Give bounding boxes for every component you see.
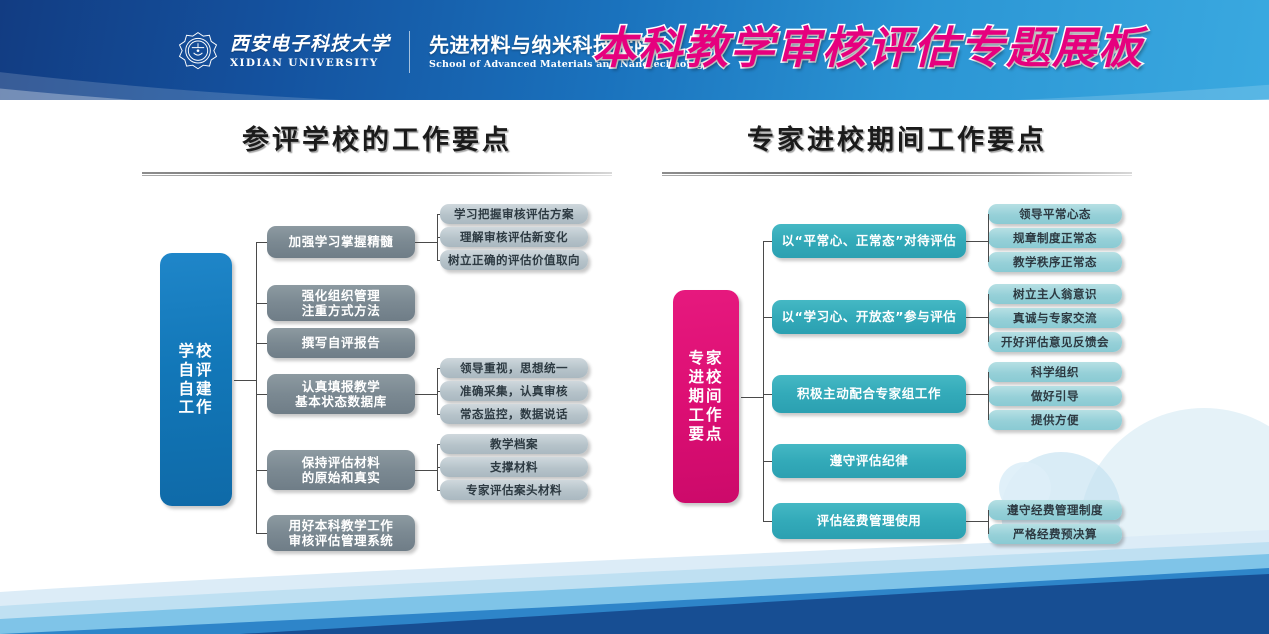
right-branch-1-item-3[interactable]: 教学秩序正常态 — [988, 252, 1122, 272]
left-item-connector-4-2 — [437, 391, 440, 392]
left-branch-4-item-3[interactable]: 常态监控，数据说话 — [440, 404, 588, 424]
left-panel-title: 参评学校的工作要点 — [142, 126, 612, 156]
left-branch-1-item-1[interactable]: 学习把握审核评估方案 — [440, 204, 588, 224]
right-child-stem-2 — [966, 317, 988, 318]
right-branch-1[interactable]: 以“平常心、正常态”对待评估 — [772, 224, 966, 258]
right-branch-3[interactable]: 积极主动配合专家组工作 — [772, 375, 966, 413]
left-item-connector-1-1 — [437, 214, 440, 215]
right-branch-1-item-2[interactable]: 规章制度正常态 — [988, 228, 1122, 248]
right-branch-4[interactable]: 遵守评估纪律 — [772, 444, 966, 478]
right-branch-connector-1 — [763, 241, 772, 242]
right-root-stem — [741, 397, 763, 398]
left-item-connector-4-3 — [437, 414, 440, 415]
left-item-connector-1-2 — [437, 237, 440, 238]
left-main-spine — [256, 242, 257, 533]
university-seal-icon — [176, 30, 220, 74]
left-branch-4-item-2[interactable]: 准确采集，认真审核 — [440, 381, 588, 401]
left-branch-1-item-2[interactable]: 理解审核评估新变化 — [440, 227, 588, 247]
right-root-node[interactable]: 专家 进校 期间 工作 要点 — [673, 290, 739, 503]
right-branch-connector-4 — [763, 461, 772, 462]
left-branch-3[interactable]: 撰写自评报告 — [267, 328, 415, 358]
left-branch-1-item-3[interactable]: 树立正确的评估价值取向 — [440, 250, 588, 270]
left-branch-4[interactable]: 认真填报教学 基本状态数据库 — [267, 374, 415, 414]
right-branch-3-item-2[interactable]: 做好引导 — [988, 386, 1122, 406]
left-branch-connector-1 — [256, 242, 267, 243]
page-title: 本科教学审核评估专题展板 — [592, 27, 1144, 71]
bottom-wave-decoration — [0, 514, 1269, 634]
right-child-spine-2 — [988, 294, 989, 342]
left-child-stem-1 — [415, 242, 437, 243]
right-branch-2-item-2[interactable]: 真诚与专家交流 — [988, 308, 1122, 328]
left-root-node[interactable]: 学校 自评 自建 工作 — [160, 253, 232, 506]
right-panel-title: 专家进校期间工作要点 — [662, 126, 1132, 156]
left-child-spine-1 — [437, 214, 438, 260]
right-branch-3-item-1[interactable]: 科学组织 — [988, 362, 1122, 382]
right-child-spine-1 — [988, 214, 989, 262]
right-child-stem-1 — [966, 241, 988, 242]
right-child-stem-3 — [966, 394, 988, 395]
logo-divider — [409, 31, 410, 73]
background-circle-small — [999, 462, 1051, 514]
right-branch-2-item-3[interactable]: 开好评估意见反馈会 — [988, 332, 1122, 352]
university-name-en: XIDIAN UNIVERSITY — [230, 57, 379, 69]
right-branch-2[interactable]: 以“学习心、开放态”参与评估 — [772, 300, 966, 334]
left-child-spine-4 — [437, 368, 438, 414]
left-branch-connector-5 — [256, 470, 267, 471]
left-child-stem-4 — [415, 394, 437, 395]
right-panel-header: 专家进校期间工作要点 — [662, 126, 1132, 177]
page-header: 西安电子科技大学 XIDIAN UNIVERSITY 先进材料与纳米科技学院 S… — [0, 0, 1269, 100]
left-branch-2[interactable]: 强化组织管理 注重方式方法 — [267, 285, 415, 321]
left-branch-5[interactable]: 保持评估材料 的原始和真实 — [267, 450, 415, 490]
left-child-spine-5 — [437, 444, 438, 490]
left-item-connector-1-3 — [437, 260, 440, 261]
left-panel-header: 参评学校的工作要点 — [142, 126, 612, 177]
left-item-connector-4-1 — [437, 368, 440, 369]
university-name-block: 西安电子科技大学 XIDIAN UNIVERSITY — [230, 35, 390, 69]
left-root-stem — [234, 380, 256, 381]
right-branch-connector-3 — [763, 394, 772, 395]
left-child-stem-5 — [415, 470, 437, 471]
poster-canvas: 西安电子科技大学 XIDIAN UNIVERSITY 先进材料与纳米科技学院 S… — [0, 0, 1269, 634]
right-branch-1-item-1[interactable]: 领导平常心态 — [988, 204, 1122, 224]
right-branch-2-item-1[interactable]: 树立主人翁意识 — [988, 284, 1122, 304]
left-branch-connector-2 — [256, 303, 267, 304]
left-panel-rule — [142, 172, 612, 177]
right-branch-3-item-3[interactable]: 提供方便 — [988, 410, 1122, 430]
right-panel-rule — [662, 172, 1132, 177]
left-branch-4-item-1[interactable]: 领导重视，思想统一 — [440, 358, 588, 378]
left-branch-5-item-1[interactable]: 教学档案 — [440, 434, 588, 454]
left-item-connector-5-3 — [437, 490, 440, 491]
left-item-connector-5-1 — [437, 444, 440, 445]
university-name-cn: 西安电子科技大学 — [230, 35, 390, 55]
right-branch-connector-2 — [763, 317, 772, 318]
left-branch-5-item-2[interactable]: 支撑材料 — [440, 457, 588, 477]
left-branch-connector-4 — [256, 394, 267, 395]
right-main-spine — [763, 241, 764, 521]
left-branch-1[interactable]: 加强学习掌握精髓 — [267, 226, 415, 258]
right-child-spine-3 — [988, 372, 989, 420]
left-branch-connector-3 — [256, 343, 267, 344]
left-branch-5-item-3[interactable]: 专家评估案头材料 — [440, 480, 588, 500]
left-item-connector-5-2 — [437, 467, 440, 468]
